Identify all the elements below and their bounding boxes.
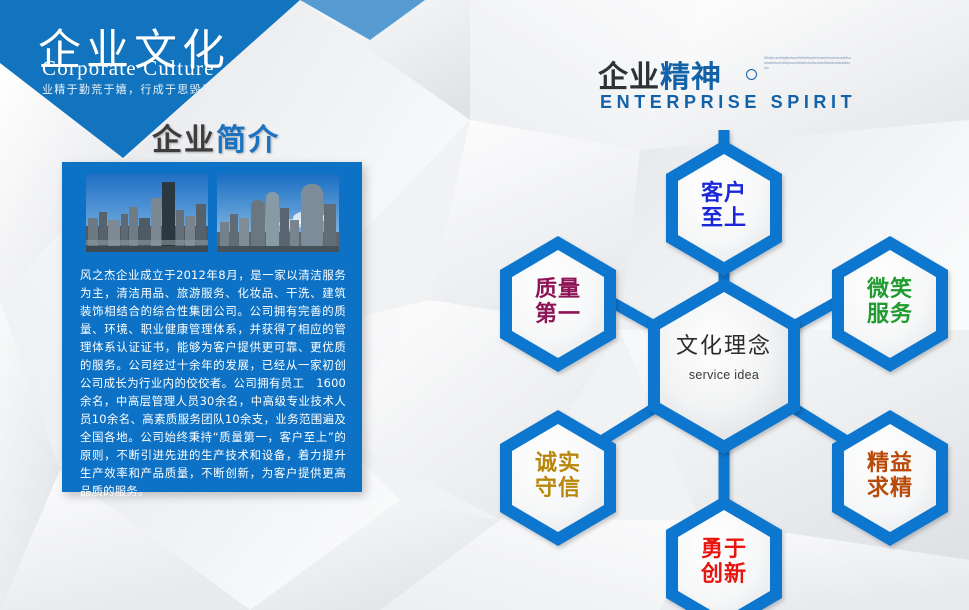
intro-heading-dark: 企业 <box>152 124 216 157</box>
intro-body-text: 风之杰企业成立于2012年8月，是一家以清洁服务为主，清洁用品、旅游服务、化妆品… <box>80 266 346 500</box>
petal-hexagon-quality-first <box>500 236 616 372</box>
banner-title-en: Corporate Culture <box>42 56 215 81</box>
spirit-heading-dark: 企业 <box>598 61 660 94</box>
decorative-circle-icon <box>746 69 757 80</box>
spirit-heading-block: 企业精神 dfhdjcruwhfdjdkslswzhfdfdhfiuetkfcf… <box>598 52 928 114</box>
center-hexagon <box>648 278 800 454</box>
decorative-micro-text: dfhdjcruwhfdjdkslswzhfdfdhfiuetkfcfuwnhf… <box>764 56 852 82</box>
city-skyline-photo-1 <box>86 174 208 252</box>
hexagon-graphics <box>480 110 969 610</box>
intro-heading-blue: 简介 <box>216 124 280 157</box>
petal-hexagon-smile-service <box>832 236 948 372</box>
petal-hexagon-customer-first <box>666 140 782 276</box>
spirit-heading-blue: 精神 <box>660 61 722 94</box>
poster-canvas: 企业文化 Corporate Culture 业精于勤荒于嬉，行成于思毁于随。 … <box>0 0 969 610</box>
culture-hexagon-diagram: 文化理念 service idea 客户 至上 微笑 服务 精益 求精 勇于 创… <box>480 110 969 610</box>
petal-hexagon-innovation <box>666 496 782 610</box>
banner-subtitle: 业精于勤荒于嬉，行成于思毁于随。 <box>42 81 239 97</box>
intro-card: 风之杰企业成立于2012年8月，是一家以清洁服务为主，清洁用品、旅游服务、化妆品… <box>62 162 362 492</box>
photo-strip <box>86 174 339 252</box>
petal-hexagon-excellence <box>832 410 948 546</box>
spirit-heading-cn: 企业精神 <box>598 52 722 96</box>
center-subtitle: service idea <box>644 368 804 382</box>
petal-hexagon-integrity <box>500 410 616 546</box>
city-skyline-photo-2 <box>217 174 339 252</box>
intro-heading: 企业简介 <box>152 115 280 159</box>
center-title: 文化理念 <box>644 328 804 360</box>
